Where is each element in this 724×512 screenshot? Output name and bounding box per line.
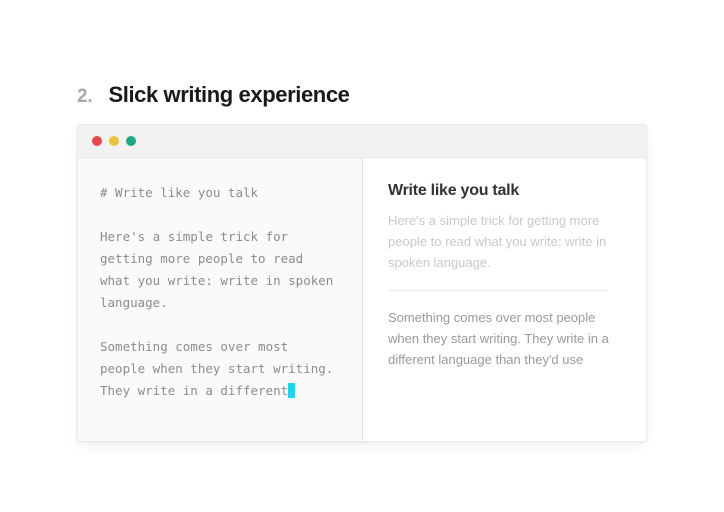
markdown-source-text[interactable]: # Write like you talk Here's a simple tr…	[100, 182, 344, 402]
window-body: # Write like you talk Here's a simple tr…	[78, 158, 646, 441]
window-controls	[92, 136, 136, 146]
close-dot-icon[interactable]	[92, 136, 102, 146]
window-titlebar	[78, 125, 646, 158]
preview-heading: Write like you talk	[388, 180, 620, 202]
section-heading: 2. Slick writing experience	[77, 82, 350, 108]
preview-divider	[388, 290, 608, 291]
preview-body-paragraph: Something comes over most people when th…	[388, 307, 620, 370]
text-caret-icon	[288, 383, 295, 398]
editor-app-window: # Write like you talk Here's a simple tr…	[77, 124, 647, 442]
section-number: 2.	[77, 86, 92, 108]
maximize-dot-icon[interactable]	[126, 136, 136, 146]
markdown-editor-pane[interactable]: # Write like you talk Here's a simple tr…	[78, 158, 363, 441]
page-title: Slick writing experience	[108, 82, 349, 108]
minimize-dot-icon[interactable]	[109, 136, 119, 146]
editor-content[interactable]: # Write like you talk Here's a simple tr…	[100, 185, 333, 398]
markdown-preview-pane: Write like you talk Here's a simple tric…	[363, 158, 646, 441]
preview-lede-paragraph: Here's a simple trick for getting more p…	[388, 210, 620, 273]
